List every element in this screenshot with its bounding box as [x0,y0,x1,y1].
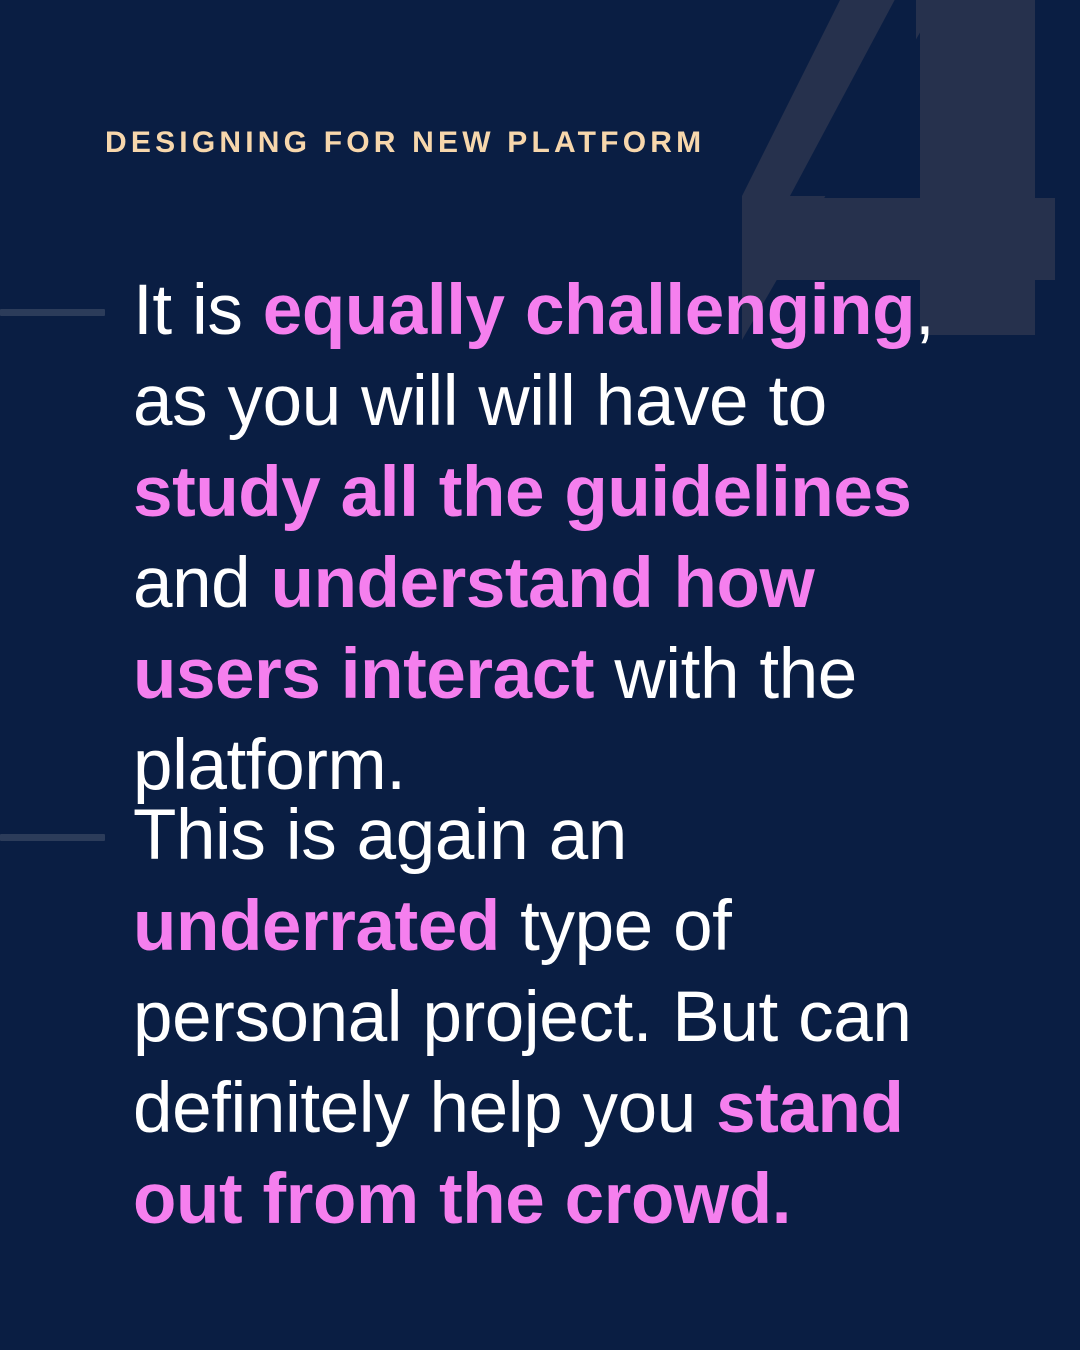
dash-marker-2 [0,834,105,841]
kicker-heading: DESIGNING FOR NEW PLATFORM [105,123,705,163]
paragraph-text-1: It is equally challenging, as you will w… [133,265,1013,811]
highlighted-text-run: underrated [133,887,500,966]
highlighted-text-run: study all the guidelines [133,453,912,532]
body-text-run: and [133,544,271,623]
paragraph-text-2: This is again an underrated type of pers… [133,790,1013,1245]
highlighted-text-run: equally challenging [263,271,915,350]
body-text-run: It is [133,271,263,350]
body-text-run: This is again an [133,796,627,875]
dash-marker-1 [0,309,105,316]
